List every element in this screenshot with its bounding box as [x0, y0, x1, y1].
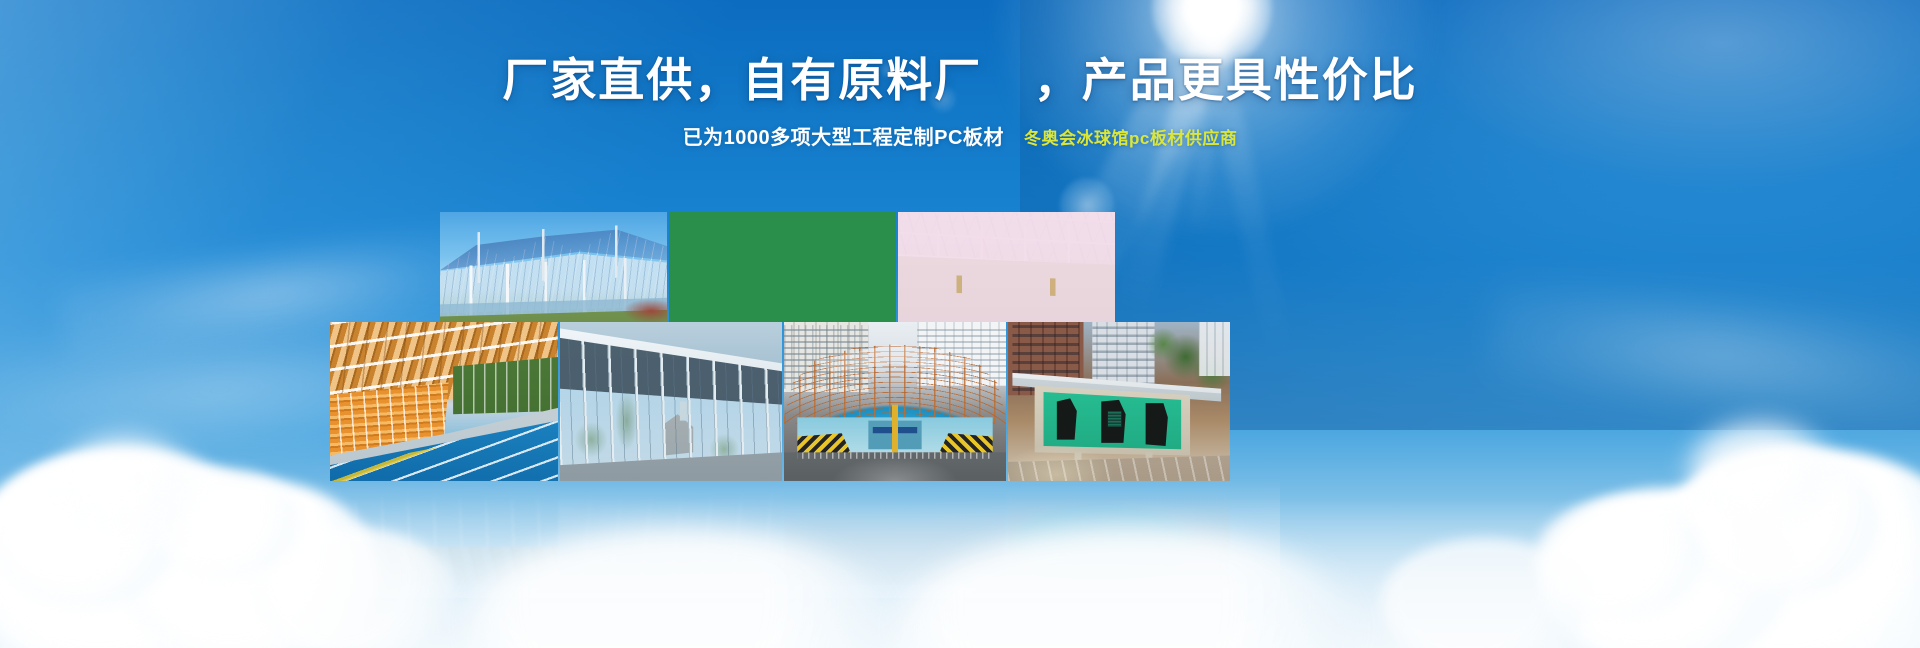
collage-photo-greenhouse-exterior-pc-roof[interactable] — [440, 212, 667, 322]
collage-photo-timber-roof-swimming-pool[interactable] — [330, 322, 558, 481]
collage-photo-blue-arch-canopy-walkway[interactable] — [784, 322, 1006, 481]
collage-photo-greenhouse-interior-flowers[interactable] — [898, 212, 1115, 322]
headline-part-1: 厂家直供，自有原料厂 — [502, 54, 982, 106]
hero-banner: 厂家直供，自有原料厂 ，产品更具性价比 已为1000多项大型工程定制PC板材 冬… — [0, 0, 1920, 648]
banner-copy: 厂家直供，自有原料厂 ，产品更具性价比 已为1000多项大型工程定制PC板材 冬… — [0, 0, 1920, 153]
collage-photo-highway-noise-barrier[interactable] — [560, 322, 782, 481]
subtitle-accent: 冬奥会冰球馆pc板材供应商 — [1024, 129, 1237, 148]
subtitle-main: 已为1000多项大型工程定制PC板材 — [683, 127, 1004, 149]
collage-photo-perforated-facade-building[interactable] — [669, 212, 896, 322]
banner-headline: 厂家直供，自有原料厂 ，产品更具性价比 — [0, 52, 1920, 108]
collage-photo-street-billboard-lightbox[interactable] — [1008, 322, 1230, 481]
banner-subtitle: 已为1000多项大型工程定制PC板材 冬奥会冰球馆pc板材供应商 — [0, 124, 1920, 153]
headline-part-2: ，产品更具性价比 — [1034, 54, 1418, 106]
